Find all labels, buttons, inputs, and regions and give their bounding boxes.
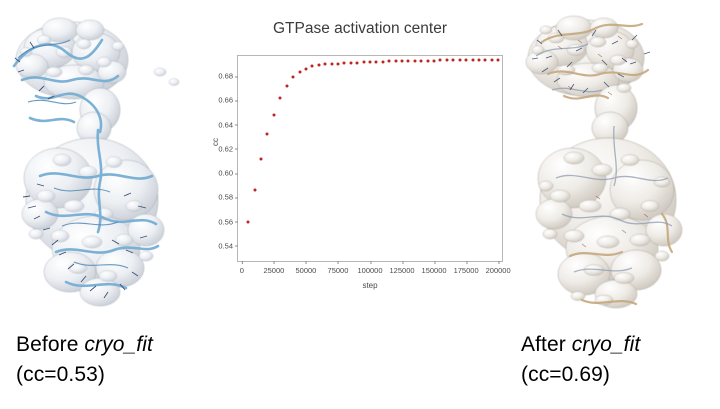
data-point — [356, 61, 359, 64]
data-point — [394, 60, 397, 63]
y-axis-tick: 0.64 — [218, 120, 238, 129]
data-point — [465, 59, 468, 62]
before-caption-emphasis: cryo_fit — [84, 333, 153, 356]
cryo-em-density-svg-after — [512, 0, 720, 330]
x-axis-tick: 75000 — [328, 261, 349, 275]
x-axis-tick: 50000 — [295, 261, 316, 275]
before-structure-panel — [0, 0, 210, 330]
y-axis-tick: 0.68 — [218, 72, 238, 81]
plot-area — [238, 56, 502, 261]
data-point — [477, 58, 480, 61]
x-axis-tick: 100000 — [357, 261, 382, 275]
x-axis-tick: 0 — [240, 261, 244, 275]
data-point — [375, 60, 378, 63]
after-caption-prefix: After — [521, 333, 572, 356]
data-point — [253, 189, 256, 192]
molecule-render-after — [512, 0, 720, 330]
data-point — [330, 62, 333, 65]
cc-vs-step-chart: GTPase activation center cc 0.540.560.58… — [205, 6, 515, 306]
data-point — [304, 67, 307, 70]
data-point — [381, 60, 384, 63]
data-point — [497, 58, 500, 61]
y-axis-tick: 0.66 — [218, 96, 238, 105]
after-structure-panel — [512, 0, 720, 330]
data-point — [317, 64, 320, 67]
data-point — [311, 65, 314, 68]
data-point — [490, 58, 493, 61]
chart-title: GTPase activation center — [205, 20, 515, 38]
before-caption: Before cryo_fit (cc=0.53) — [16, 330, 153, 390]
x-axis-tick: 150000 — [422, 261, 447, 275]
y-axis-tick: 0.62 — [218, 144, 238, 153]
before-caption-prefix: Before — [16, 333, 84, 356]
y-axis-tick: 0.54 — [218, 241, 238, 250]
data-point — [343, 62, 346, 65]
data-point — [420, 59, 423, 62]
data-point — [452, 59, 455, 62]
data-point — [324, 63, 327, 66]
x-axis-tick: 175000 — [454, 261, 479, 275]
data-point — [349, 61, 352, 64]
data-point — [471, 59, 474, 62]
data-point — [336, 62, 339, 65]
data-point — [362, 61, 365, 64]
after-caption-cc: (cc=0.69) — [521, 360, 640, 390]
data-point — [272, 113, 275, 116]
y-axis-tick: 0.58 — [218, 193, 238, 202]
x-axis-tick: 125000 — [390, 261, 415, 275]
x-axis-tick: 200000 — [486, 261, 511, 275]
data-point — [369, 61, 372, 64]
data-point — [266, 133, 269, 136]
data-point — [279, 96, 282, 99]
after-caption: After cryo_fit (cc=0.69) — [521, 330, 640, 390]
before-caption-cc: (cc=0.53) — [16, 360, 153, 390]
data-point — [298, 71, 301, 74]
data-point — [484, 58, 487, 61]
data-point — [388, 60, 391, 63]
data-point — [292, 76, 295, 79]
cryo-em-density-svg-before — [0, 0, 210, 330]
data-point — [285, 84, 288, 87]
data-point — [439, 59, 442, 62]
data-point — [247, 220, 250, 223]
x-axis-label: step — [237, 281, 503, 290]
data-point — [426, 59, 429, 62]
data-point — [413, 59, 416, 62]
plot-frame: 0.540.560.580.600.620.640.660.6802500050… — [237, 55, 503, 262]
data-point — [401, 60, 404, 63]
data-point — [433, 59, 436, 62]
data-point — [407, 60, 410, 63]
data-point — [458, 59, 461, 62]
y-axis-tick: 0.60 — [218, 169, 238, 178]
after-caption-emphasis: cryo_fit — [572, 333, 641, 356]
data-point — [445, 59, 448, 62]
y-axis-tick: 0.56 — [218, 217, 238, 226]
x-axis-tick: 25000 — [263, 261, 284, 275]
data-point — [260, 157, 263, 160]
molecule-render-before — [0, 0, 210, 330]
